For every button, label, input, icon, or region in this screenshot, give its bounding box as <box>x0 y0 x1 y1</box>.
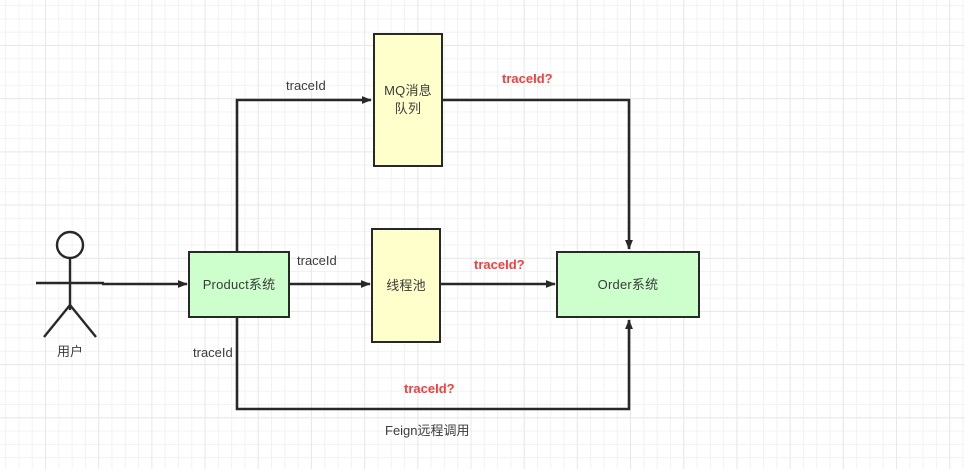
node-mq[interactable]: MQ消息 队列 <box>373 33 443 167</box>
user-actor-figure <box>36 232 104 337</box>
edge-label-threadpool-to-order: traceId? <box>474 258 525 272</box>
edge-label-product-to-threadpool: traceId <box>297 254 337 268</box>
edge-label-feign-to-order: traceId? <box>404 382 455 396</box>
edge-label-product-down: traceId <box>193 346 233 360</box>
node-mq-label-line2: 队列 <box>384 100 432 118</box>
edge-label-product-to-mq: traceId <box>286 79 326 93</box>
diagram-connectors <box>0 0 965 469</box>
node-product-label: Product系统 <box>203 276 276 294</box>
diagram-canvas: 用户 Product系统 MQ消息 队列 线程池 Order系统 traceId… <box>0 0 965 469</box>
edge-label-feign-caption: Feign远程调用 <box>385 424 470 438</box>
edge-label-mq-to-order: traceId? <box>502 72 553 86</box>
node-threadpool[interactable]: 线程池 <box>371 228 441 343</box>
node-mq-label-line1: MQ消息 <box>384 82 432 100</box>
edge-mq-to-order <box>443 100 629 249</box>
node-product[interactable]: Product系统 <box>188 251 290 318</box>
user-actor-label: 用户 <box>57 341 83 360</box>
node-order[interactable]: Order系统 <box>556 251 700 318</box>
edge-product-to-mq <box>237 100 371 251</box>
node-order-label: Order系统 <box>598 276 659 294</box>
node-threadpool-label: 线程池 <box>386 277 426 295</box>
